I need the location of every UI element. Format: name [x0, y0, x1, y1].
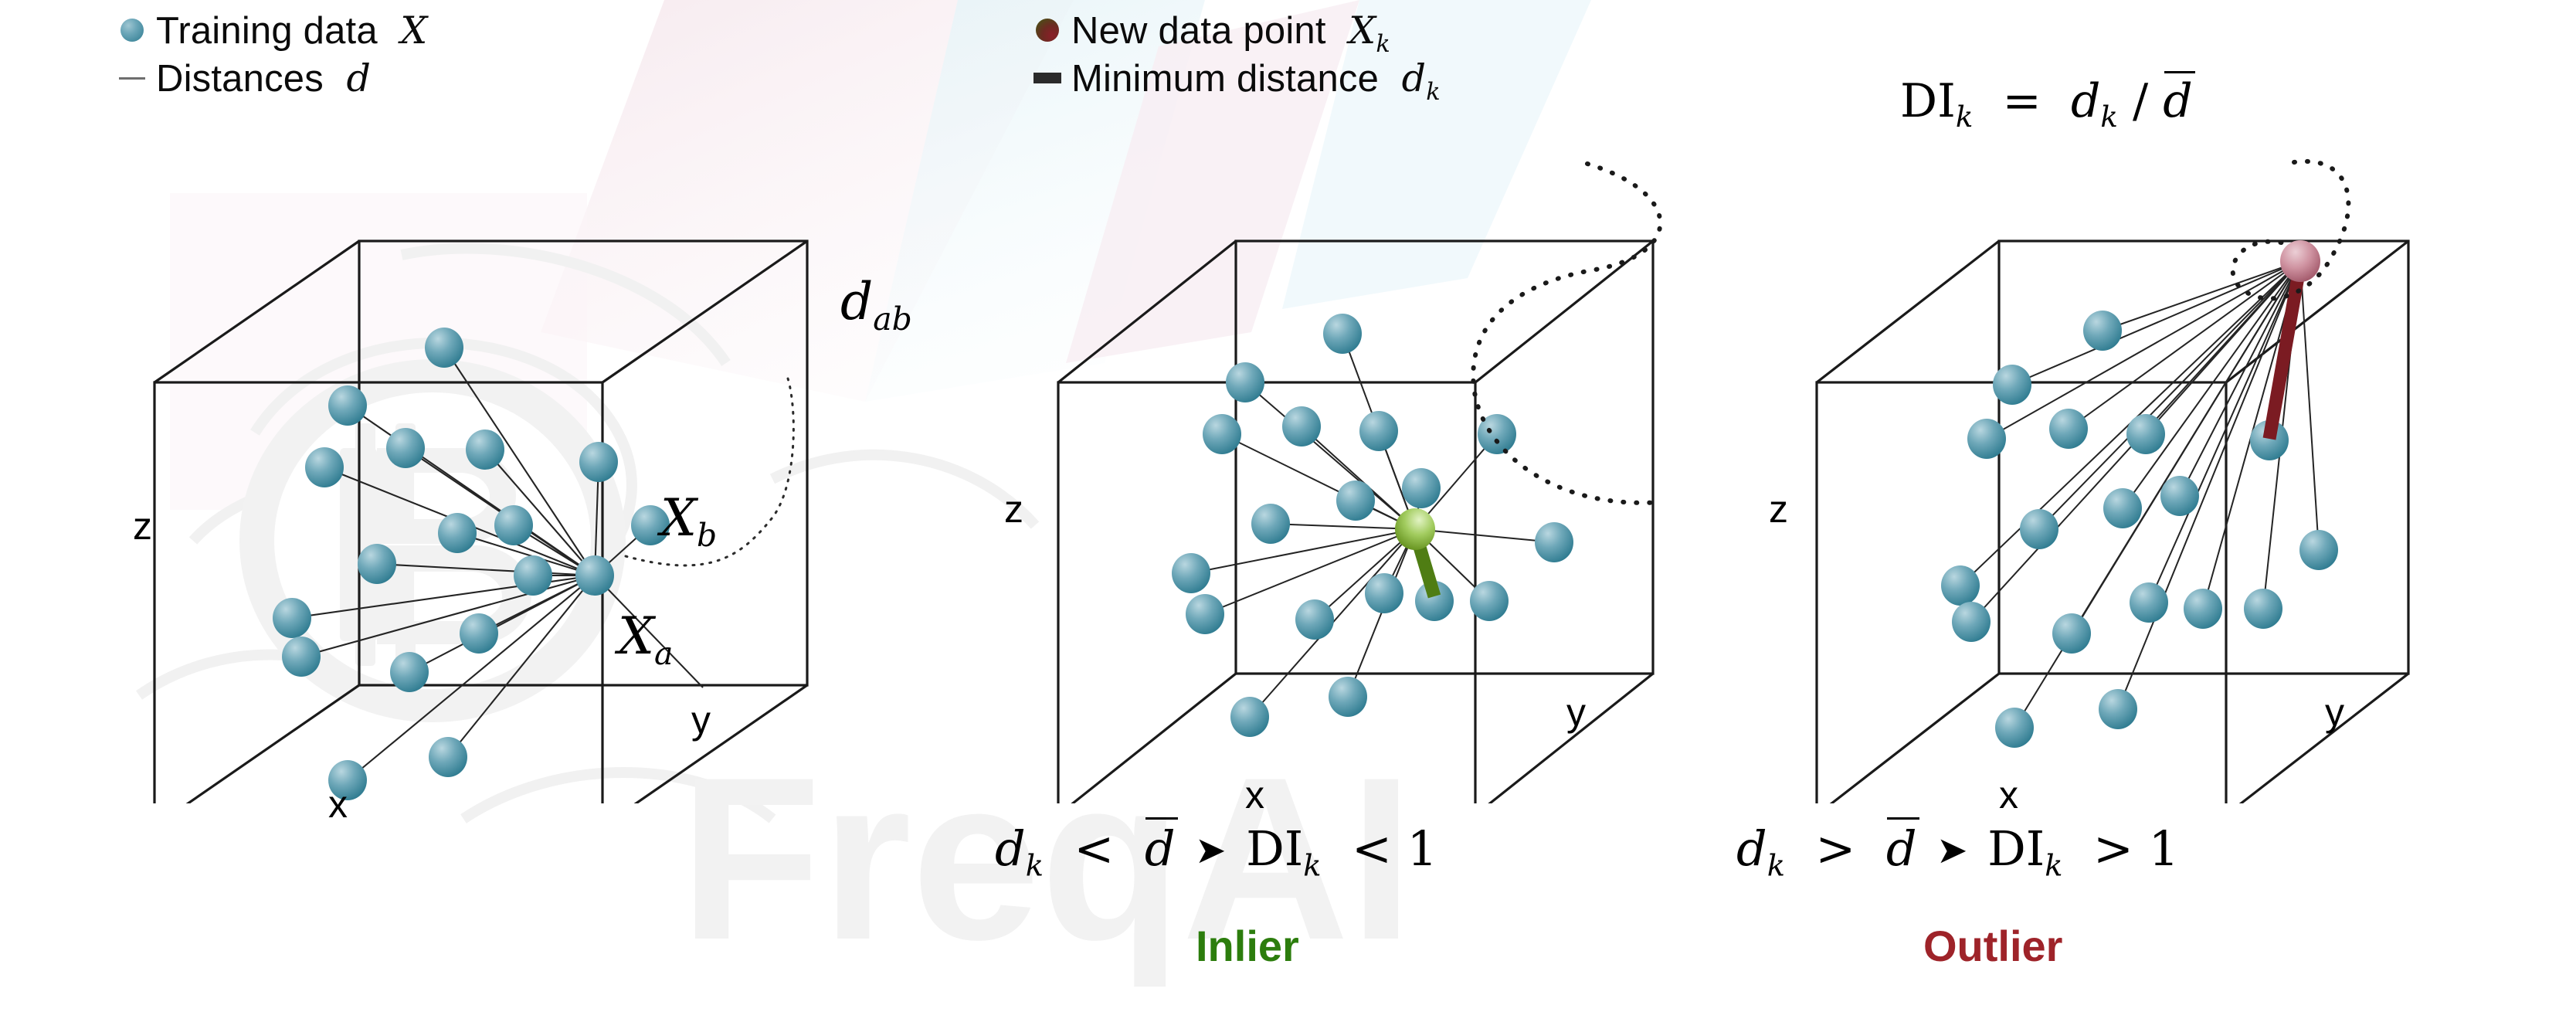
- new-data-point-outlier: [2280, 240, 2320, 282]
- legend-left: Training data X Distances d: [108, 6, 428, 102]
- panel1-axis-y: y: [691, 698, 711, 742]
- outlier-formula: dk > d ➤ DIk > 1: [1736, 820, 2179, 877]
- label-point-xb: Xb: [660, 488, 717, 548]
- legend-item-training-data: Training data X: [108, 6, 428, 54]
- legend-item-new-data-point: New data point Xk: [1023, 6, 1441, 54]
- panel1-axis-x: x: [328, 782, 348, 827]
- thin-dash-icon: [108, 77, 156, 80]
- label-distance-dab: dab: [840, 272, 912, 331]
- caption-outlier: Outlier: [1923, 921, 2062, 971]
- panel2-axis-z: z: [1004, 487, 1023, 531]
- panel1-axis-z: z: [133, 504, 152, 548]
- legend-label-distances: Distances d: [156, 56, 371, 100]
- teal-sphere-dot-icon: [108, 19, 156, 42]
- new-data-point-inlier: [1395, 508, 1435, 550]
- label-point-xa: Xa: [618, 606, 673, 666]
- legend-item-distances: Distances d: [108, 54, 428, 102]
- point-xa: [575, 555, 614, 596]
- arrow-icon: ➤: [1932, 829, 1972, 872]
- panel3-axis-y: y: [2325, 690, 2344, 735]
- arrow-icon: ➤: [1190, 829, 1230, 872]
- di-denominator: d: [2163, 74, 2192, 128]
- panel2-axis-y: y: [1566, 690, 1586, 735]
- distance-lines: [1960, 261, 2319, 728]
- di-lhs: DIk: [1900, 74, 1973, 128]
- di-numerator: dk: [2071, 74, 2118, 128]
- panel-training-cube: [93, 216, 865, 803]
- inlier-formula: dk < d ➤ DIk < 1: [995, 820, 1437, 877]
- legend-right: New data point Xk Minimum distance dk: [1023, 6, 1441, 102]
- thick-dash-icon: [1023, 73, 1071, 83]
- panel2-axis-x: x: [1245, 772, 1264, 817]
- caption-inlier: Inlier: [1196, 921, 1299, 971]
- panel-outlier-cube: [1800, 216, 2441, 803]
- legend-item-minimum-distance: Minimum distance dk: [1023, 54, 1441, 102]
- panel3-axis-z: z: [1769, 487, 1788, 531]
- di-definition-formula: DIk = dk / d: [1900, 74, 2193, 128]
- new-point-dot-icon: [1023, 19, 1071, 42]
- panel-inlier-cube: [1050, 216, 1684, 803]
- legend-label-minimum-distance: Minimum distance dk: [1071, 56, 1441, 100]
- legend-label-new-data-point: New data point Xk: [1071, 8, 1390, 53]
- panel3-axis-x: x: [1999, 772, 2018, 817]
- legend-label-training-data: Training data X: [156, 8, 428, 53]
